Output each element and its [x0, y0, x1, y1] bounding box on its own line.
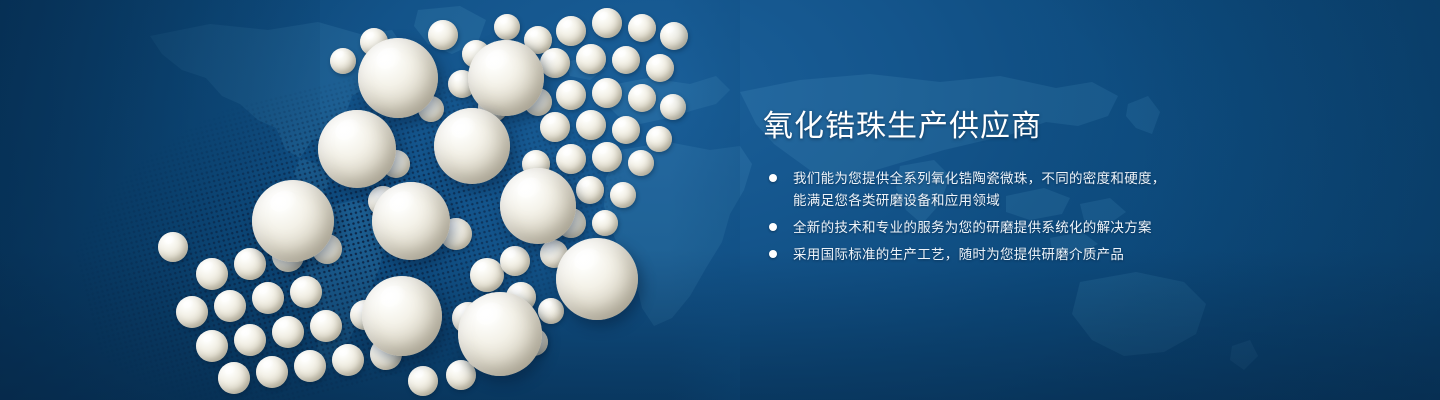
list-item: 我们能为您提供全系列氧化锆陶瓷微珠，不同的密度和硬度， 能满足您各类研磨设备和应… — [766, 168, 1366, 212]
bullet-dot-icon — [769, 174, 777, 182]
bullet-dot-icon — [769, 223, 777, 231]
bullet-line: 全新的技术和专业的服务为您的研磨提供系统化的解决方案 — [793, 217, 1366, 239]
bullet-line: 能满足您各类研磨设备和应用领域 — [793, 190, 1366, 212]
banner-bullet-list: 我们能为您提供全系列氧化锆陶瓷微珠，不同的密度和硬度， 能满足您各类研磨设备和应… — [766, 168, 1366, 271]
bullet-line: 采用国际标准的生产工艺，随时为您提供研磨介质产品 — [793, 244, 1366, 266]
bullet-line: 我们能为您提供全系列氧化锆陶瓷微珠，不同的密度和硬度， — [793, 168, 1366, 190]
banner-headline: 氧化锆珠生产供应商 — [763, 110, 1042, 144]
banner-content: 氧化锆珠生产供应商 我们能为您提供全系列氧化锆陶瓷微珠，不同的密度和硬度， 能满… — [763, 0, 1383, 400]
hero-banner: 氧化锆珠生产供应商 我们能为您提供全系列氧化锆陶瓷微珠，不同的密度和硬度， 能满… — [0, 0, 1440, 400]
list-item: 全新的技术和专业的服务为您的研磨提供系统化的解决方案 — [766, 217, 1366, 239]
list-item: 采用国际标准的生产工艺，随时为您提供研磨介质产品 — [766, 244, 1366, 266]
bullet-dot-icon — [769, 250, 777, 258]
